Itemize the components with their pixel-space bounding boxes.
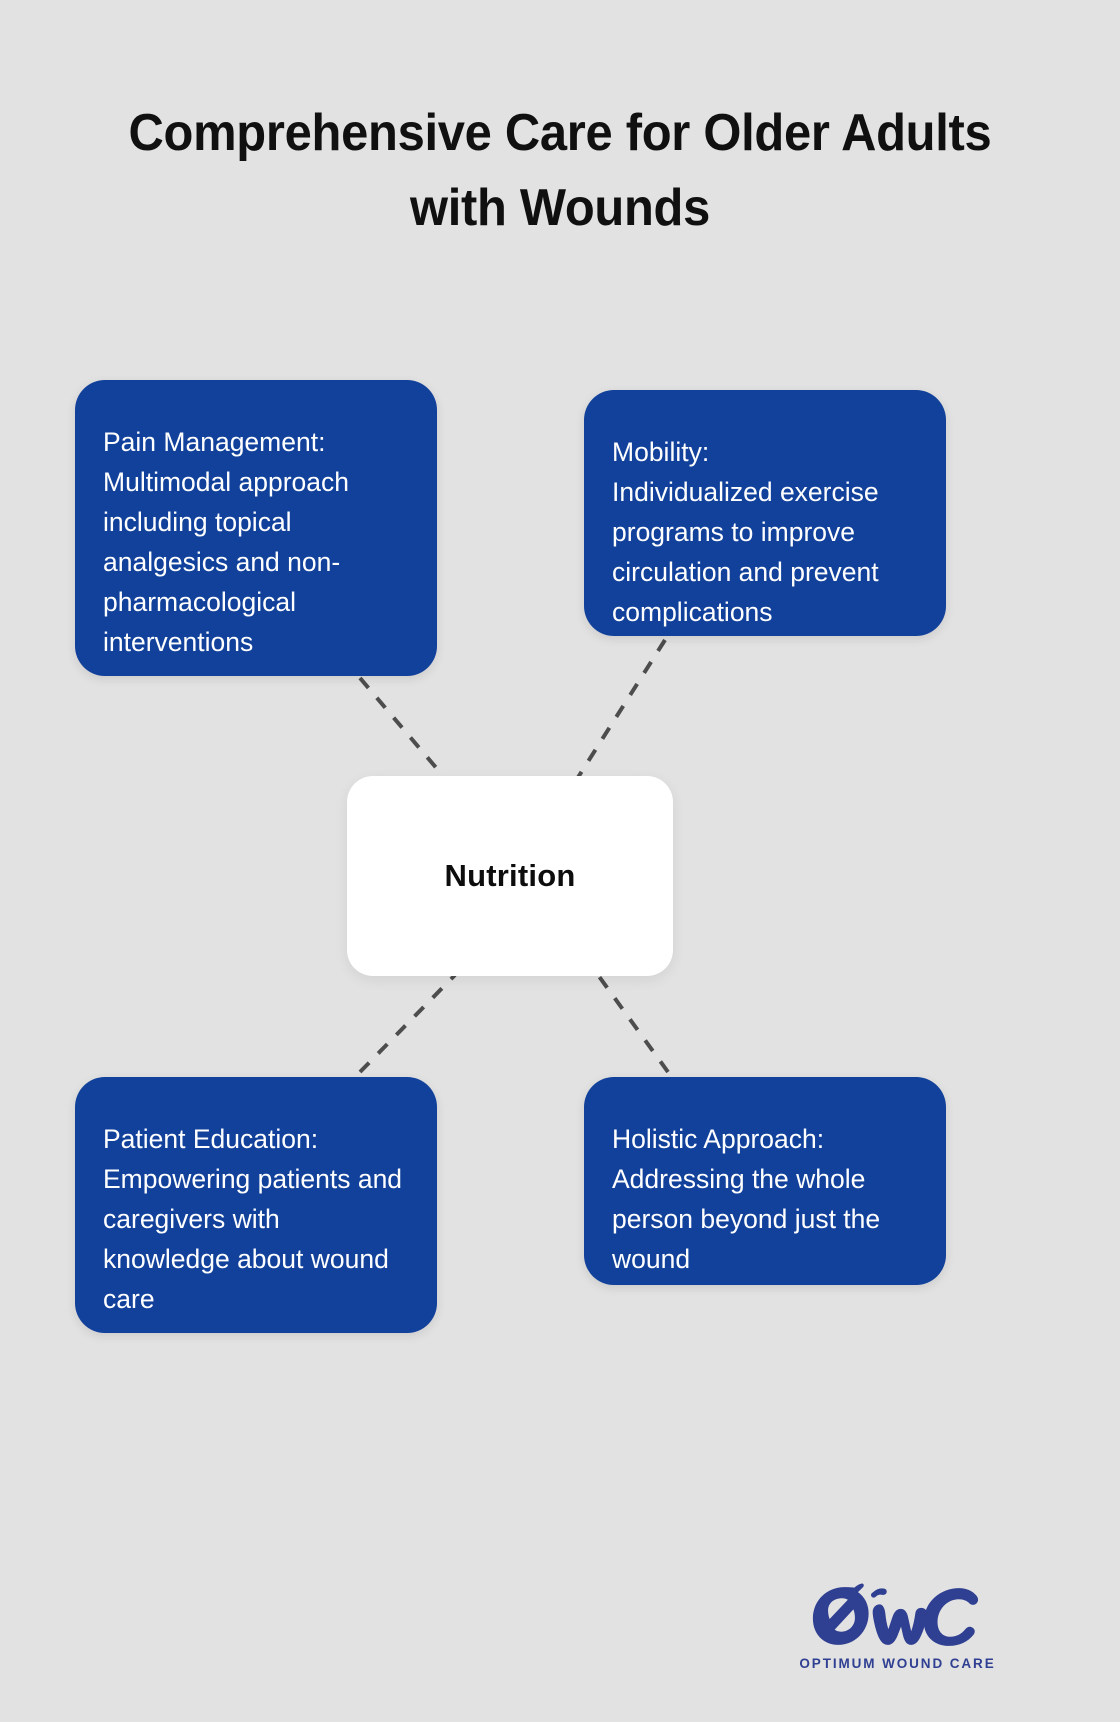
center-node-nutrition[interactable]: Nutrition xyxy=(347,776,673,976)
connector-line-top-left xyxy=(360,678,455,790)
card-pain-management[interactable]: Pain Management: Multimodal approach inc… xyxy=(75,380,437,676)
center-node-label: Nutrition xyxy=(445,858,576,894)
connector-line-bottom-left xyxy=(360,975,455,1072)
card-mobility[interactable]: Mobility: Individualized exercise progra… xyxy=(584,390,946,636)
page-title: Comprehensive Care for Older Adults with… xyxy=(90,96,1030,247)
card-patient-education[interactable]: Patient Education: Empowering patients a… xyxy=(75,1077,437,1333)
logo-subtitle: OPTIMUM WOUND CARE xyxy=(795,1656,1000,1671)
card-holistic-approach[interactable]: Holistic Approach: Addressing the whole … xyxy=(584,1077,946,1285)
owc-script-icon xyxy=(795,1578,1000,1654)
connector-line-bottom-right xyxy=(598,975,668,1072)
brand-logo: OPTIMUM WOUND CARE xyxy=(795,1578,1000,1688)
connector-line-top-right xyxy=(570,640,665,790)
